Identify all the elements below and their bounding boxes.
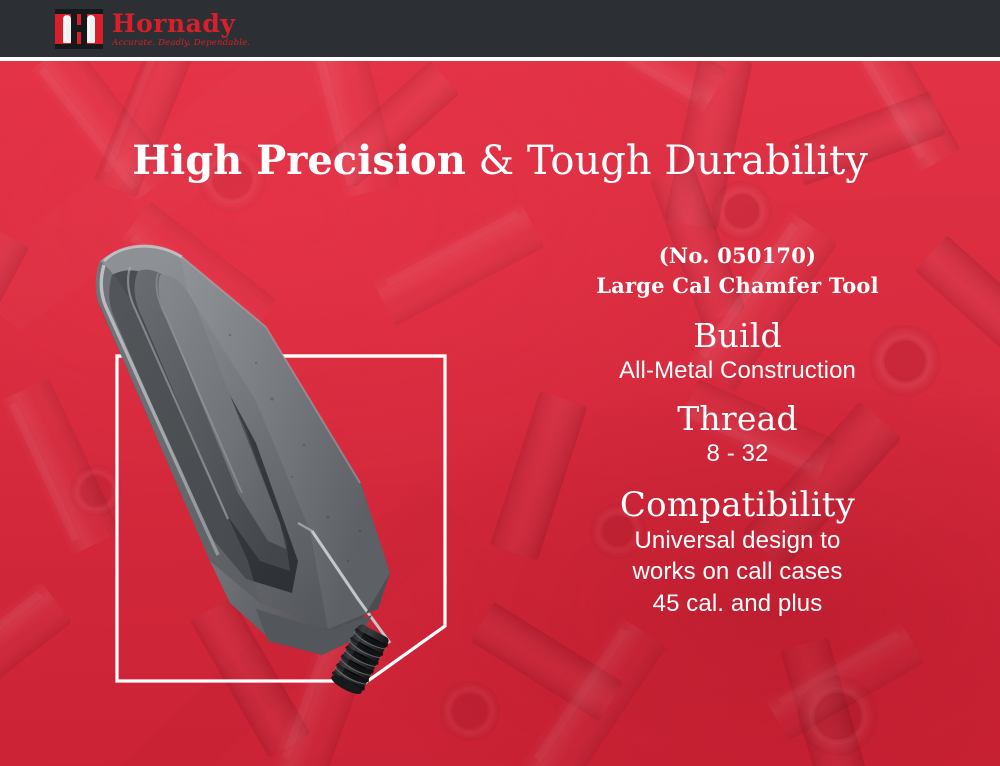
spec-title-thread: Thread	[545, 400, 930, 439]
logo-text-block: Hornady Accurate. Deadly. Dependable.	[112, 11, 250, 48]
spec-value-compatibility-line1: Universal design to	[545, 525, 930, 557]
spec-value-compatibility-line3: 45 cal. and plus	[545, 588, 930, 620]
page-title-strong: High Precision	[132, 137, 466, 184]
page-title: High Precision & Tough Durability	[0, 137, 1000, 184]
hornady-logo[interactable]: Hornady Accurate. Deadly. Dependable.	[55, 9, 250, 49]
spec-value-compatibility-line2: works on call cases	[545, 556, 930, 588]
page-title-rest: & Tough Durability	[466, 138, 868, 184]
logo-wordmark: Hornady	[112, 11, 250, 36]
spec-group-build: Build All-Metal Construction	[545, 317, 930, 386]
product-sku: (No. 050170) Large Cal Chamfer Tool	[545, 241, 930, 301]
header-accent-line	[0, 57, 1000, 61]
spec-value-thread: 8 - 32	[545, 439, 930, 469]
infographic-page: Hornady Accurate. Deadly. Dependable.	[0, 0, 1000, 766]
spec-group-compatibility: Compatibility Universal design to works …	[545, 485, 930, 620]
product-image-area	[60, 231, 510, 731]
product-name: Large Cal Chamfer Tool	[545, 271, 930, 301]
product-sku-number: (No. 050170)	[545, 241, 930, 271]
spec-panel: (No. 050170) Large Cal Chamfer Tool Buil…	[545, 241, 930, 620]
spec-group-thread: Thread 8 - 32	[545, 400, 930, 469]
hornady-h-bullets-icon	[55, 9, 103, 49]
spec-title-compatibility: Compatibility	[545, 485, 930, 525]
spec-title-build: Build	[545, 317, 930, 356]
logo-tagline: Accurate. Deadly. Dependable.	[112, 39, 250, 48]
red-cartridge-background: High Precision & Tough Durability	[0, 61, 1000, 766]
chamfer-tool-photo-icon	[60, 231, 510, 731]
spec-value-compatibility: Universal design to works on call cases …	[545, 525, 930, 620]
spec-value-build: All-Metal Construction	[545, 356, 930, 386]
